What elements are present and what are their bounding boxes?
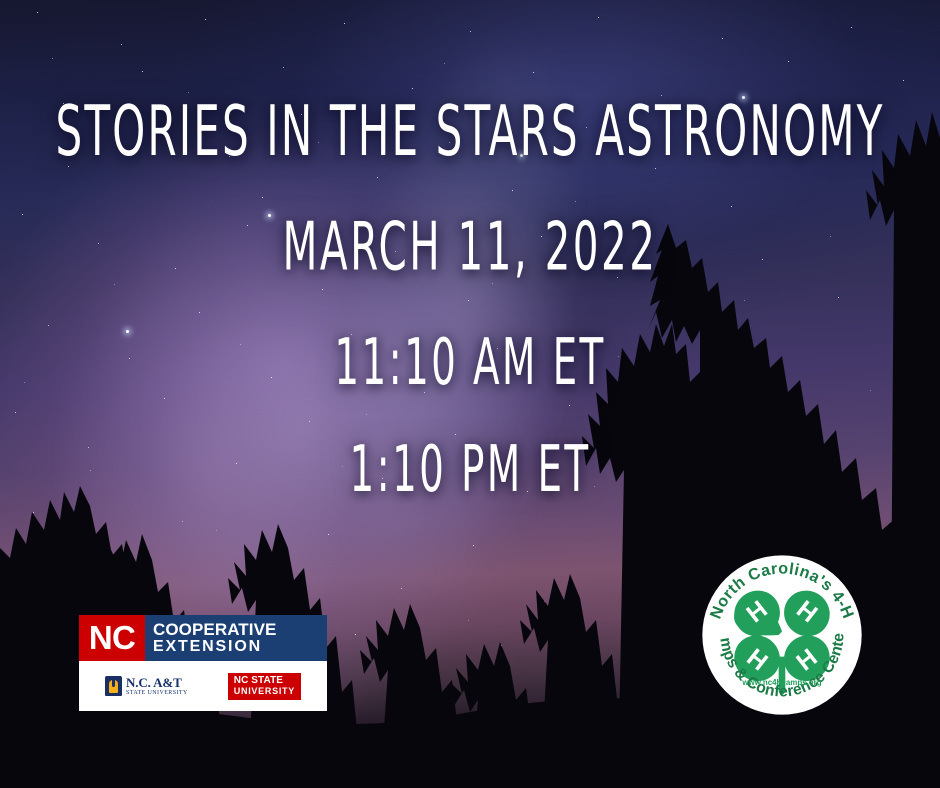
nc-at-subtitle: STATE UNIVERSITY: [126, 690, 188, 696]
nc-at-name: N.C. A&T: [126, 676, 188, 689]
event-date: March 11, 2022: [47, 208, 893, 286]
cooperative-text: COOPERATIVE: [153, 621, 322, 638]
nc-state-logo: NC STATE UNIVERSITY: [228, 673, 301, 700]
nc-cooperative-extension-logo: NC COOPERATIVE EXTENSION N.C. A&T STATE …: [79, 615, 327, 711]
seal-website-text: www.nc4hcamps.org: [741, 678, 821, 687]
nc-at-wordmark: N.C. A&T STATE UNIVERSITY: [126, 676, 188, 696]
event-time-morning: 11:10 AM ET: [47, 325, 893, 400]
extension-logo-banner: NC COOPERATIVE EXTENSION: [79, 615, 327, 661]
cooperative-extension-wordmark: COOPERATIVE EXTENSION: [145, 615, 327, 661]
nc-at-logo: N.C. A&T STATE UNIVERSITY: [105, 676, 188, 696]
nc-state-name: NC STATE: [234, 676, 295, 686]
aggie-bulldog-icon: [105, 676, 122, 696]
event-poster: Stories in the Stars Astronomy March 11,…: [0, 0, 940, 788]
extension-text: EXTENSION: [153, 639, 322, 655]
nc-state-subtitle: UNIVERSITY: [234, 687, 295, 696]
nc-wordmark: NC: [79, 615, 145, 661]
page-title: Stories in the Stars Astronomy: [47, 92, 893, 172]
event-time-afternoon: 1:10 PM ET: [47, 432, 893, 507]
nc-4h-camps-seal: H H H H North Carolina's 4-H Camps & Con…: [699, 552, 865, 718]
partner-universities-bar: N.C. A&T STATE UNIVERSITY NC STATE UNIVE…: [79, 661, 327, 711]
